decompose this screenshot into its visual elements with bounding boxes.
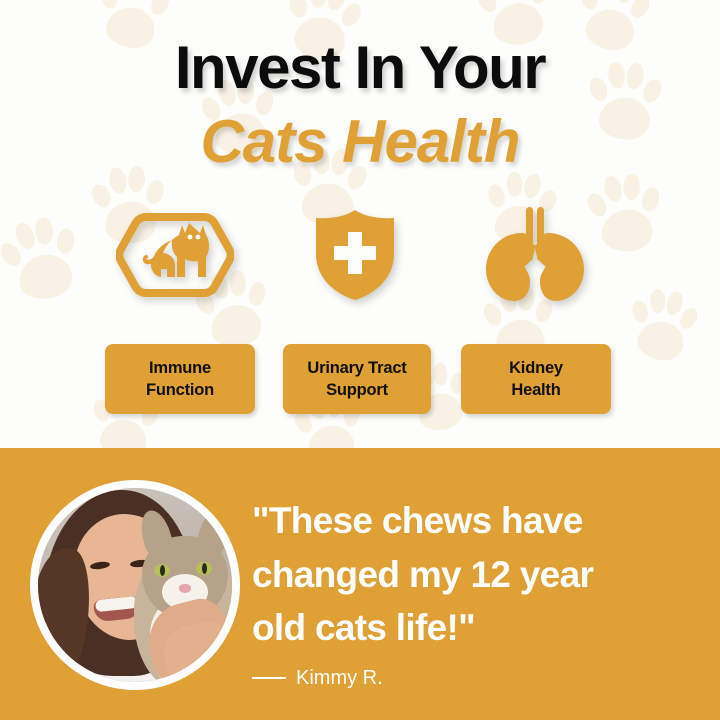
avatar-photo [38,488,232,682]
attribution-dash-icon [252,677,286,679]
promo-graphic: Invest In Your Cats Health [0,0,720,720]
testimonial-author: Kimmy R. [296,667,383,690]
benefit-icon-urinary [265,196,445,314]
benefit-pill-immune-line2: Function [146,381,214,399]
benefit-pill-urinary[interactable]: Urinary Tract Support [283,344,431,414]
kidneys-icon [480,205,590,305]
page-title-line1: Invest In Your [0,38,720,98]
benefit-pill-urinary-line1: Urinary Tract [307,359,406,377]
shield-plus-icon [311,208,399,302]
benefit-pill-immune[interactable]: Immune Function [105,344,255,414]
testimonial-quote-line2: changed my 12 year [252,548,704,602]
benefit-icon-row [0,196,720,314]
headline: Invest In Your Cats Health [0,38,720,172]
cat-in-hexagon-icon [116,199,234,311]
testimonial-section: "These chews have changed my 12 year old… [0,448,720,720]
benefit-pill-kidney[interactable]: Kidney Health [461,344,611,414]
testimonial-quote-line1: "These chews have [252,494,704,548]
page-title-line2: Cats Health [0,112,720,172]
benefit-pill-immune-line1: Immune [149,359,211,377]
benefit-icon-immune [85,196,265,314]
benefit-icon-kidney [445,196,625,314]
benefit-pill-urinary-line2: Support [326,381,388,399]
benefit-label-row: Immune Function Urinary Tract Support Ki… [0,344,720,416]
testimonial-attribution: Kimmy R. [252,667,704,690]
testimonial-quote-block: "These chews have changed my 12 year old… [252,494,704,690]
testimonial-quote-line3: old cats life!" [252,601,704,655]
benefit-pill-kidney-line2: Health [511,381,560,399]
benefit-pill-kidney-line1: Kidney [509,359,563,377]
avatar [30,480,240,690]
